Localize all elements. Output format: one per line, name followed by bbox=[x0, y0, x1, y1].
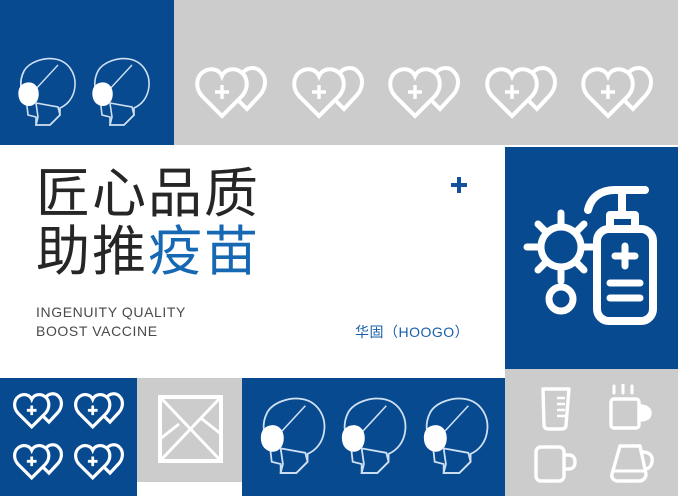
masked-head-icon bbox=[88, 53, 154, 131]
subtitle-line-1: INGENUITY QUALITY bbox=[36, 303, 186, 322]
subtitle-line-2: BOOST VACCINE bbox=[36, 322, 186, 341]
hand-sanitizer-bottle-icon bbox=[505, 147, 678, 369]
double-heart-plus-icon bbox=[11, 390, 69, 432]
headline-line-2: 助推疫苗 bbox=[36, 223, 456, 281]
bottom-mask-icon-row bbox=[252, 390, 497, 482]
broken-image-placeholder-icon bbox=[157, 394, 224, 464]
double-heart-plus-icon bbox=[11, 441, 69, 483]
brand-name: 华固（HOOGO） bbox=[355, 322, 469, 342]
double-heart-plus-icon bbox=[72, 441, 130, 483]
headline-block: 匠心品质 助推疫苗 bbox=[36, 165, 456, 281]
double-heart-plus-icon bbox=[482, 64, 566, 122]
double-heart-plus-icon bbox=[578, 64, 662, 122]
double-heart-plus-icon bbox=[385, 64, 469, 122]
headline-line-2-dark: 助推 bbox=[36, 222, 148, 282]
masked-head-icon bbox=[256, 392, 330, 480]
mug-icon bbox=[533, 443, 579, 485]
plus-icon bbox=[450, 176, 468, 194]
masked-head-icon bbox=[14, 53, 80, 131]
double-heart-plus-icon bbox=[289, 64, 373, 122]
vessel-icon-grid bbox=[518, 380, 668, 492]
poster-canvas: 匠心品质 助推疫苗 INGENUITY QUALITY BOOST VACCIN… bbox=[0, 0, 678, 496]
double-heart-plus-icon bbox=[72, 390, 130, 432]
double-heart-plus-icon bbox=[192, 64, 276, 122]
top-mask-icon-row bbox=[14, 52, 164, 132]
top-heart-icon-row bbox=[192, 62, 662, 124]
sanitizer-blue-panel bbox=[505, 147, 678, 369]
headline-line-2-accent: 疫苗 bbox=[148, 222, 260, 282]
subtitle-block: INGENUITY QUALITY BOOST VACCINE bbox=[36, 303, 186, 341]
steaming-cup-icon bbox=[608, 384, 654, 432]
masked-head-icon bbox=[337, 392, 411, 480]
masked-head-icon bbox=[419, 392, 493, 480]
kettle-icon bbox=[606, 442, 656, 486]
measuring-beaker-icon bbox=[535, 385, 577, 431]
bottom-heart-icon-grid bbox=[10, 386, 130, 486]
headline-line-1: 匠心品质 bbox=[36, 165, 456, 223]
